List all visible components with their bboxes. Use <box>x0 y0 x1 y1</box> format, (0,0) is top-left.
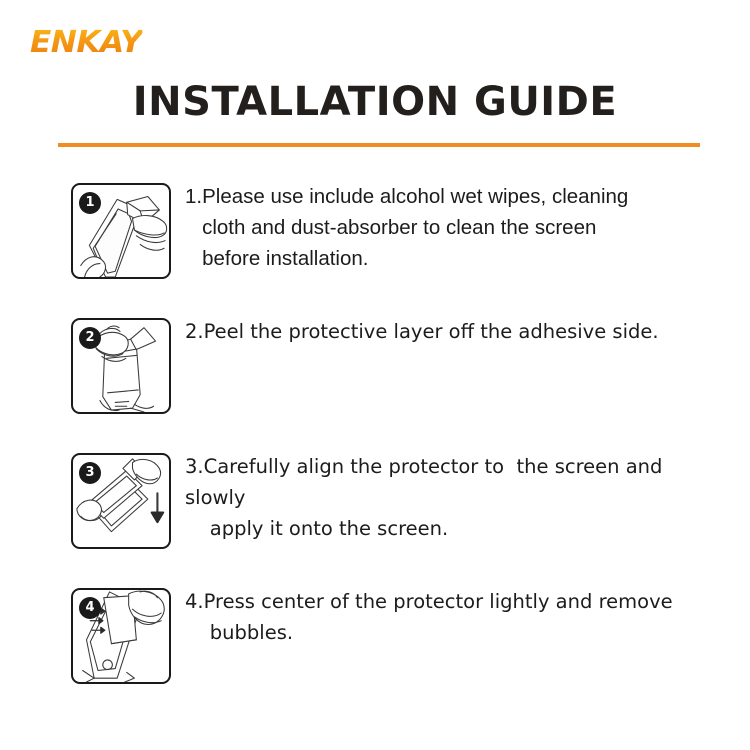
step-badge: 2 <box>79 327 101 349</box>
installation-steps-list: 1 1.Please use include alcohol wet wipes… <box>0 183 750 723</box>
brand-logo-text: ENKAY <box>30 28 142 58</box>
step-description: 4.Press center of the protector lightly … <box>185 586 695 648</box>
step-badge-label: 2 <box>85 330 94 345</box>
step-item: 4 4.Press center of the protector lightl… <box>0 588 750 723</box>
step-badge: 3 <box>79 462 101 484</box>
step-badge: 4 <box>79 597 101 619</box>
page-title: INSTALLATION GUIDE <box>0 78 750 126</box>
step-badge-label: 1 <box>85 195 94 210</box>
step-description: 3.Carefully align the protector to the s… <box>185 451 695 544</box>
step-item: 1 1.Please use include alcohol wet wipes… <box>0 183 750 318</box>
header-divider <box>58 143 700 147</box>
brand-logo: ENKAY <box>30 26 138 60</box>
step-description: 1.Please use include alcohol wet wipes, … <box>185 181 695 274</box>
step-item: 2 2.Peel the protective layer off the ad… <box>0 318 750 453</box>
step-badge: 1 <box>79 192 101 214</box>
step-description: 2.Peel the protective layer off the adhe… <box>185 316 695 347</box>
step-badge-label: 4 <box>85 600 94 615</box>
step-badge-label: 3 <box>85 465 94 480</box>
step-item: 3 3.Carefully align the protector to the… <box>0 453 750 588</box>
